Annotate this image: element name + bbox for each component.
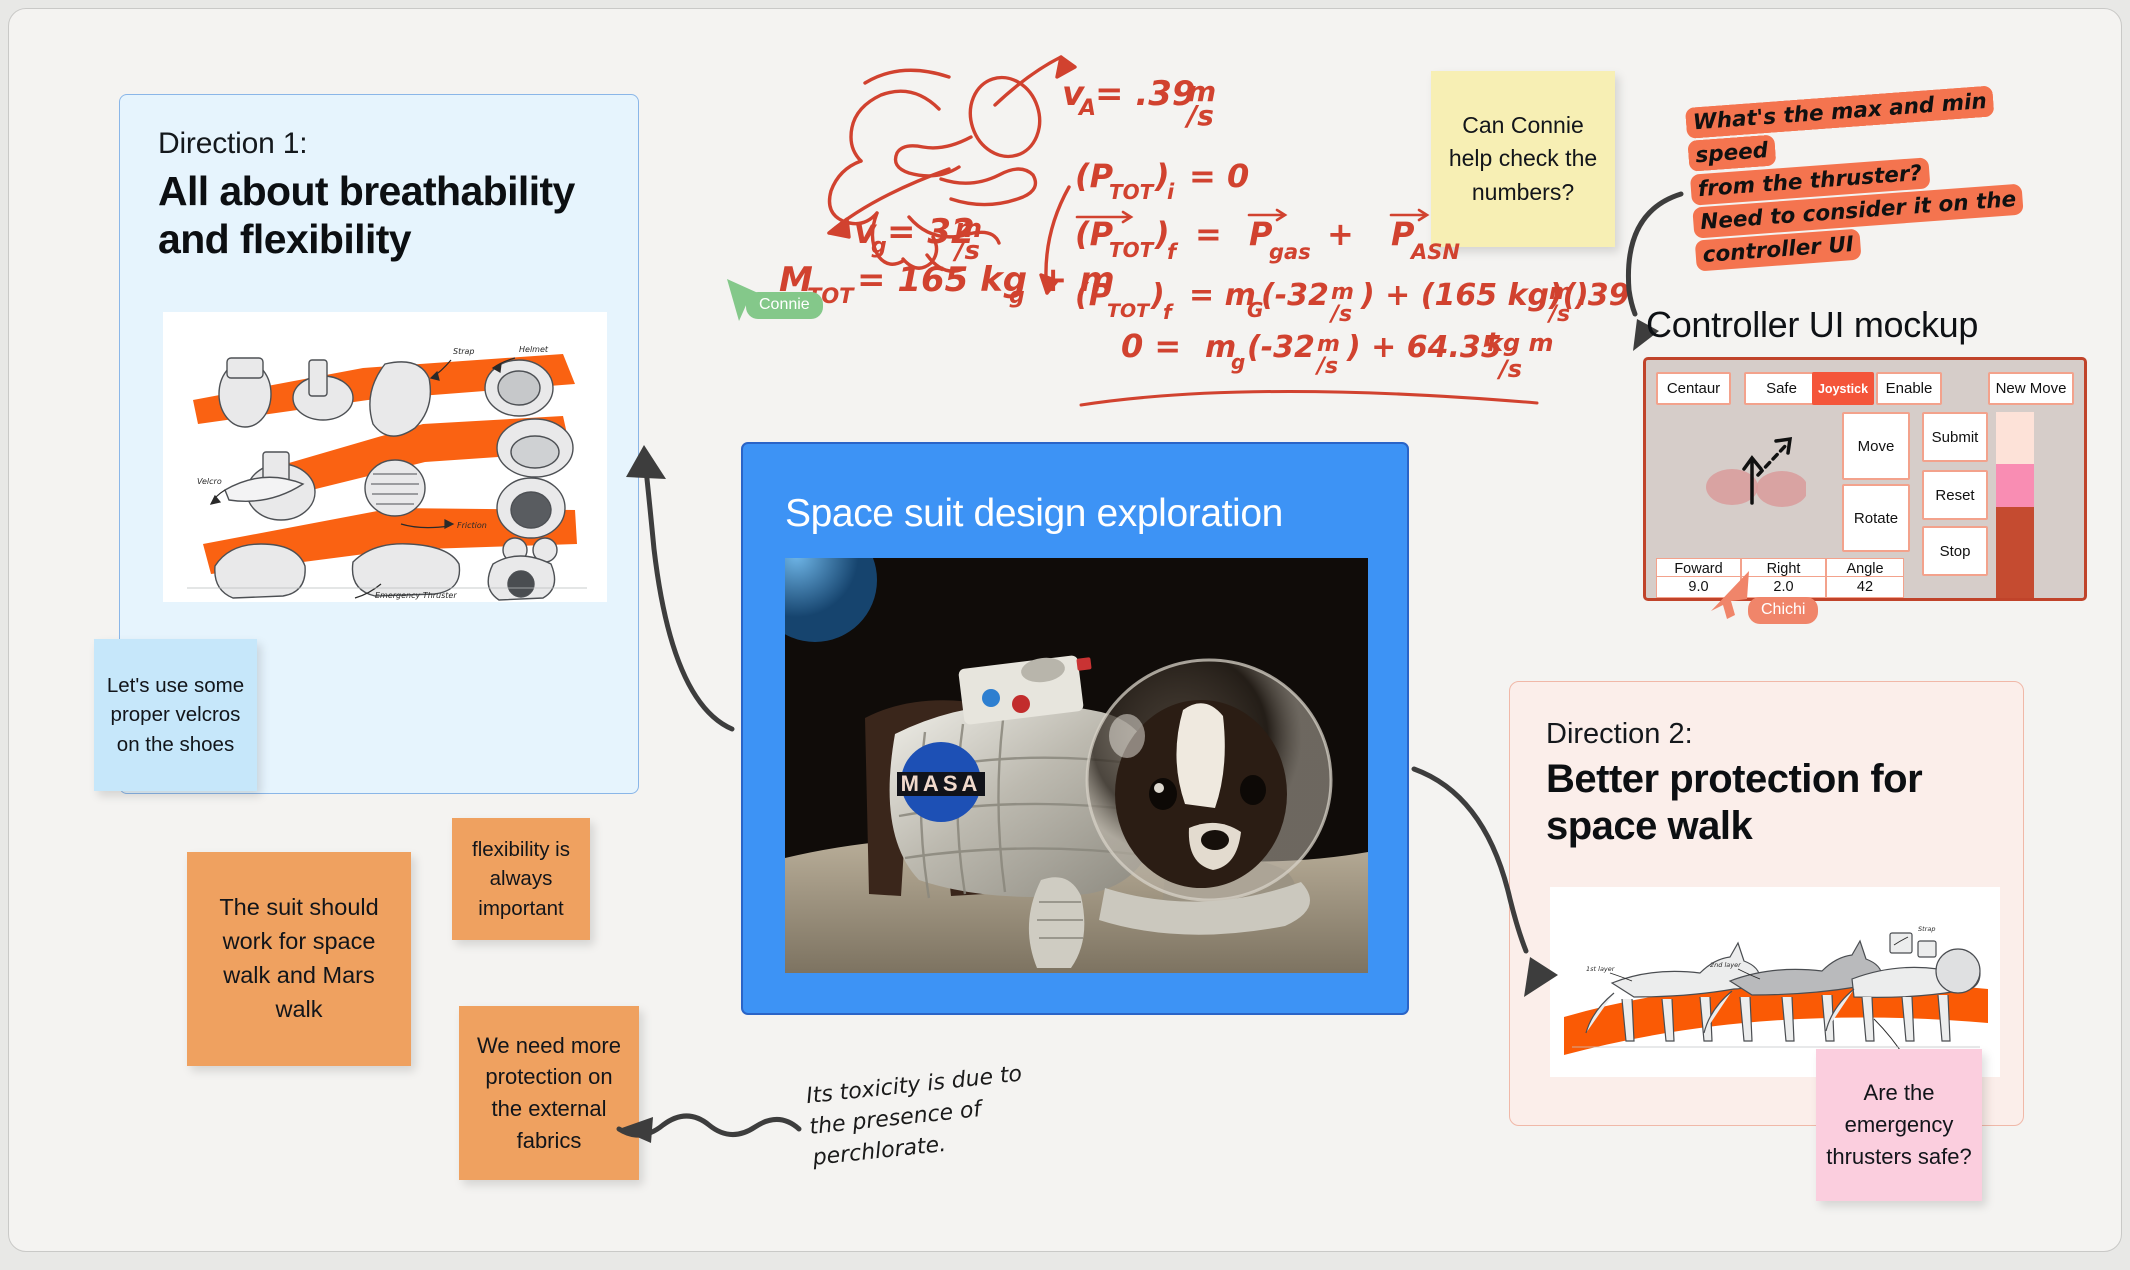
sticky-note-flexibility[interactable]: flexibility is always important <box>452 818 590 940</box>
readout-value-foward-text: 9.0 <box>1688 579 1708 595</box>
svg-text:i: i <box>1167 180 1175 204</box>
svg-text:) + 64.35: ) + 64.35 <box>1346 330 1502 365</box>
sticky-note-thrusters[interactable]: Are the emergency thrusters safe? <box>1816 1049 1982 1201</box>
controller-button-reset-label: Reset <box>1935 487 1974 504</box>
controller-button-joystick[interactable]: Joystick <box>1812 372 1874 405</box>
svg-text:2nd layer: 2nd layer <box>1710 961 1742 969</box>
cursor-connie-label: Connie <box>746 292 823 319</box>
svg-text:/s: /s <box>952 236 980 266</box>
controller-heading: Controller UI mockup <box>1646 304 1978 346</box>
sticky-note-thrusters-text: Are the emergency thrusters safe? <box>1826 1077 1972 1172</box>
controller-button-submit[interactable]: Submit <box>1922 412 1988 462</box>
slider-segment-high[interactable] <box>1996 507 2034 598</box>
svg-text:1st layer: 1st layer <box>1586 965 1616 973</box>
svg-text:/s: /s <box>1328 302 1352 327</box>
svg-text:g: g <box>1009 284 1025 309</box>
controller-button-move[interactable]: Move <box>1842 412 1910 480</box>
readout-value-foward[interactable]: 9.0 <box>1656 576 1741 598</box>
svg-text:m: m <box>1187 75 1216 108</box>
svg-text:= 32: = 32 <box>887 212 975 252</box>
perchlorate-handwritten-note[interactable]: Its toxicity is due to the presence of p… <box>805 1057 1044 1174</box>
sticky-note-velcro-text: Let's use some proper velcros on the sho… <box>104 671 247 760</box>
svg-text:= 0: = 0 <box>1189 157 1249 195</box>
sticky-note-flexibility-text: flexibility is always important <box>462 835 580 924</box>
svg-text:= m: = m <box>1189 278 1256 313</box>
cursor-chichi-label: Chichi <box>1748 597 1818 624</box>
readout-value-angle[interactable]: 42 <box>1826 576 1904 598</box>
svg-text:v: v <box>1062 74 1086 114</box>
svg-text:Emergency Thruster: Emergency Thruster <box>375 591 457 600</box>
svg-text:+: + <box>1327 215 1354 253</box>
svg-text:0 =: 0 = <box>1121 327 1181 365</box>
photo-patch-label: MASA <box>901 771 982 796</box>
readout-header-right-label: Right <box>1767 561 1801 577</box>
space-dog-illustration: MASA <box>785 558 1368 973</box>
svg-text:/s: /s <box>1546 302 1570 327</box>
svg-text:g: g <box>1231 350 1245 374</box>
svg-text:P: P <box>1249 215 1273 253</box>
svg-text:Helmet: Helmet <box>519 345 549 354</box>
direction-2-title: Better protection for space walk <box>1546 756 1996 850</box>
svg-text:G: G <box>1247 298 1263 322</box>
sticky-note-suit-text: The suit should work for space walk and … <box>197 891 401 1026</box>
svg-text:m: m <box>1317 332 1340 357</box>
controller-button-rotate-label: Rotate <box>1854 510 1898 527</box>
svg-text:): ) <box>1154 215 1170 253</box>
controller-button-stop[interactable]: Stop <box>1922 526 1988 576</box>
svg-text:g: g <box>871 234 887 259</box>
controller-button-rotate[interactable]: Rotate <box>1842 484 1910 552</box>
svg-text:TOT: TOT <box>1109 180 1155 204</box>
slider-segment-low[interactable] <box>1996 412 2034 464</box>
svg-text:f: f <box>1163 300 1174 324</box>
direction-1-kicker: Direction 1: <box>158 127 307 161</box>
svg-text:TOT: TOT <box>1107 300 1151 322</box>
controller-button-move-label: Move <box>1858 438 1895 455</box>
svg-text:A: A <box>1077 96 1096 121</box>
svg-text:) + (165 kg)(.39: ) + (165 kg)(.39 <box>1360 278 1630 313</box>
center-card-title: Space suit design exploration <box>785 492 1283 536</box>
svg-text:/s: /s <box>1496 355 1522 383</box>
svg-text:m: m <box>955 214 982 244</box>
controller-button-joystick-label: Joystick <box>1818 382 1868 396</box>
readout-value-right-text: 2.0 <box>1773 579 1793 595</box>
center-card[interactable]: Space suit design exploration <box>741 442 1409 1015</box>
svg-text:m: m <box>1205 330 1236 365</box>
joystick-widget[interactable] <box>1696 415 1806 525</box>
svg-text:kg m: kg m <box>1487 329 1554 357</box>
svg-text:f: f <box>1167 240 1179 264</box>
controller-button-submit-label: Submit <box>1932 429 1979 446</box>
readout-header-angle-label: Angle <box>1846 561 1883 577</box>
svg-text:(P: (P <box>1075 157 1114 195</box>
svg-text:Velcro: Velcro <box>197 477 222 486</box>
thruster-power-slider[interactable] <box>1996 412 2034 598</box>
suit-parts-sketch: Strap Helmet Velcro Friction Emergency T… <box>163 312 607 602</box>
controller-button-new-move[interactable]: New Move <box>1988 372 2074 405</box>
svg-text:m: m <box>1549 280 1572 305</box>
svg-text:(P: (P <box>1075 215 1114 253</box>
svg-text:gas: gas <box>1269 240 1311 264</box>
svg-text:= .39: = .39 <box>1095 74 1196 114</box>
svg-text:v: v <box>854 212 878 252</box>
svg-text:(-32: (-32 <box>1261 278 1329 313</box>
sticky-note-connie-check[interactable]: Can Connie help check the numbers? <box>1431 71 1615 247</box>
controller-button-reset[interactable]: Reset <box>1922 470 1988 520</box>
svg-text:= 165 kg + m: = 165 kg + m <box>857 260 1115 300</box>
svg-text:Friction: Friction <box>457 521 487 530</box>
svg-text:(P: (P <box>1075 278 1111 313</box>
svg-text:/s: /s <box>1314 354 1338 379</box>
controller-button-enable[interactable]: Enable <box>1876 372 1942 405</box>
controller-button-stop-label: Stop <box>1940 543 1971 560</box>
svg-text:): ) <box>1154 157 1170 195</box>
svg-text:(-32: (-32 <box>1247 330 1315 365</box>
svg-text:=: = <box>1195 215 1222 253</box>
svg-text:P: P <box>1391 215 1415 253</box>
controller-button-centaur-label: Centaur <box>1667 380 1720 397</box>
direction-2-kicker: Direction 2: <box>1546 718 1693 751</box>
svg-text:/s: /s <box>1184 99 1214 132</box>
controller-button-safe[interactable]: Safe <box>1744 372 1819 405</box>
highlighted-handwritten-note[interactable]: What's the max and min speed from the th… <box>1685 81 2043 231</box>
sticky-note-fabrics[interactable]: We need more protection on the external … <box>459 1006 639 1180</box>
readout-value-right[interactable]: 2.0 <box>1741 576 1826 598</box>
direction-1-title: All about breathability and flexibility <box>158 167 608 264</box>
sticky-note-fabrics-text: We need more protection on the external … <box>469 1030 629 1157</box>
whiteboard-canvas[interactable]: Direction 1: All about breathability and… <box>8 8 2122 1252</box>
sticky-note-suit[interactable]: The suit should work for space walk and … <box>187 852 411 1066</box>
svg-text:Strap: Strap <box>1918 925 1935 933</box>
controller-ui-mockup[interactable]: Centaur Safe Joystick Enable New Move Mo… <box>1643 357 2087 601</box>
svg-text:m: m <box>1331 280 1354 305</box>
direction-1-sketch-image[interactable]: Strap Helmet Velcro Friction Emergency T… <box>163 312 607 602</box>
svg-text:TOT: TOT <box>1109 238 1155 262</box>
svg-text:): ) <box>1150 278 1165 313</box>
readout-header-foward-label: Foward <box>1674 561 1722 577</box>
sticky-note-connie-check-text: Can Connie help check the numbers? <box>1441 109 1605 208</box>
slider-segment-mid[interactable] <box>1996 464 2034 507</box>
svg-text:): ) <box>1574 278 1589 313</box>
readout-value-angle-text: 42 <box>1857 579 1873 595</box>
controller-button-safe-label: Safe <box>1766 380 1797 397</box>
sticky-note-velcro[interactable]: Let's use some proper velcros on the sho… <box>94 639 257 791</box>
controller-button-centaur[interactable]: Centaur <box>1656 372 1731 405</box>
svg-text:Strap: Strap <box>453 347 474 356</box>
space-suit-dog-photo[interactable]: MASA <box>785 558 1368 973</box>
controller-button-enable-label: Enable <box>1886 380 1933 397</box>
controller-button-new-move-label: New Move <box>1996 380 2067 397</box>
